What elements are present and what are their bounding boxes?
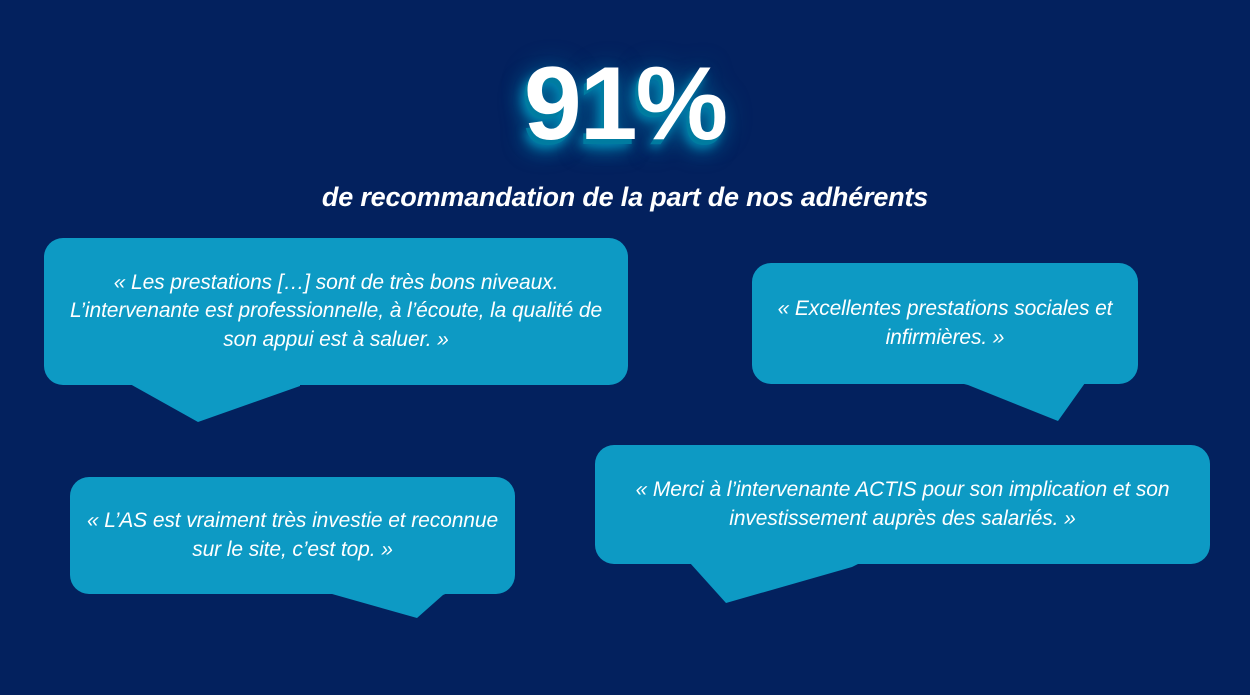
testimonial-infographic: 91% de recommandation de la part de nos … — [0, 0, 1250, 695]
testimonial-text-2: « Excellentes prestations sociales et in… — [752, 295, 1138, 351]
percentage-stat: 91% — [524, 52, 726, 156]
headline-subtitle: de recommandation de la part de nos adhé… — [0, 182, 1250, 213]
headline-block: 91% — [0, 52, 1250, 156]
testimonial-text-1: « Les prestations […] sont de très bons … — [44, 269, 628, 353]
testimonial-bubble-1: « Les prestations […] sont de très bons … — [44, 238, 628, 385]
bubble-tail-2 — [960, 383, 1085, 423]
testimonial-bubble-3: « L’AS est vraiment très investie et rec… — [70, 477, 515, 594]
bubble-tail-3 — [325, 592, 450, 620]
testimonial-text-3: « L’AS est vraiment très investie et rec… — [70, 507, 515, 563]
testimonial-bubble-4: « Merci à l’intervenante ACTIS pour son … — [595, 445, 1210, 564]
bubble-tail-4 — [690, 563, 860, 605]
testimonial-bubble-2: « Excellentes prestations sociales et in… — [752, 263, 1138, 384]
bubble-tail-1 — [130, 384, 300, 424]
testimonial-text-4: « Merci à l’intervenante ACTIS pour son … — [595, 476, 1210, 532]
